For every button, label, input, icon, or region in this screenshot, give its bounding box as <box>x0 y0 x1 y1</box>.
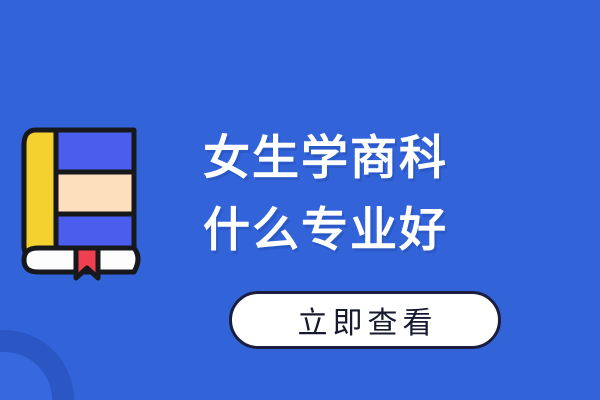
headline-line-2: 什么专业好 <box>203 194 523 266</box>
book-cover-band <box>56 172 134 214</box>
headline: 女生学商科 什么专业好 <box>203 122 523 266</box>
book-spine <box>24 130 56 260</box>
view-now-button[interactable]: 立即查看 <box>229 291 501 349</box>
decor-ring-outer <box>0 330 74 400</box>
view-now-button-label: 立即查看 <box>293 298 438 342</box>
book-icon <box>16 120 146 285</box>
book-cover-top <box>56 130 134 172</box>
promo-banner: 女生学商科 什么专业好 立即查看 <box>0 0 600 400</box>
decor-ring-inner <box>0 352 52 400</box>
headline-line-1: 女生学商科 <box>203 122 523 194</box>
